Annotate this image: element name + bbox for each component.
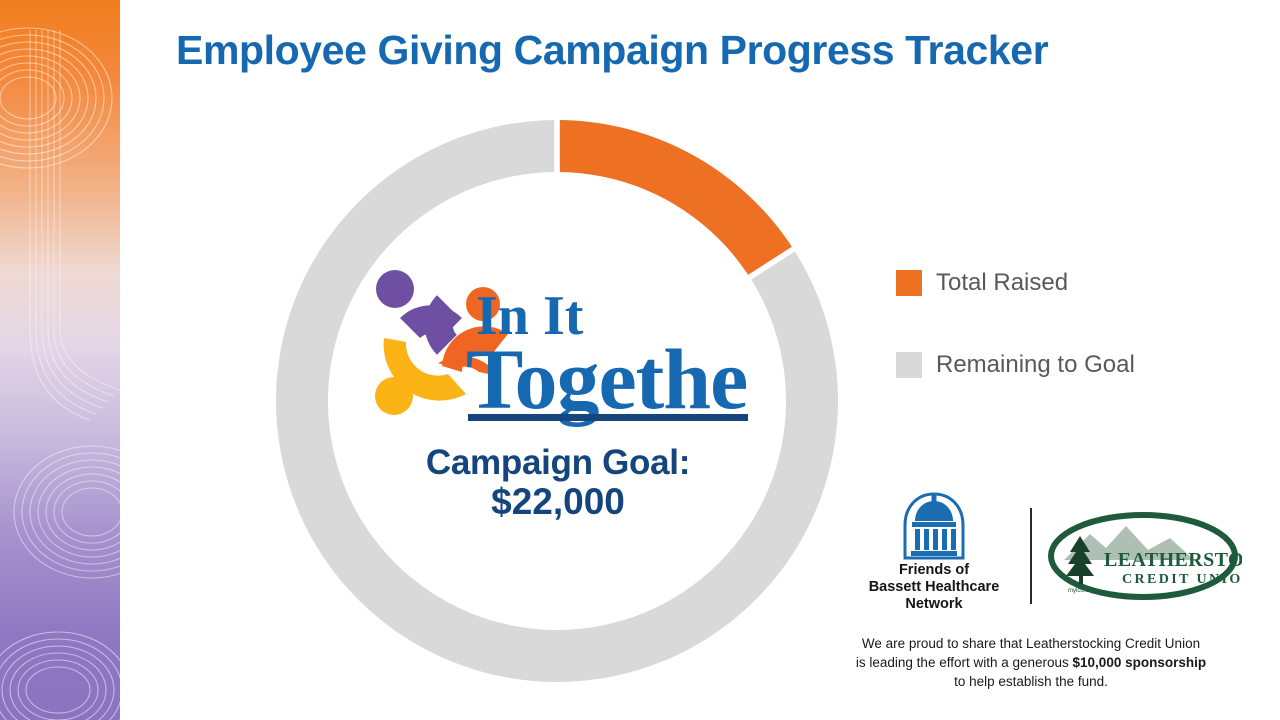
sponsorship-note: We are proud to share that Leatherstocki… — [826, 634, 1236, 691]
friends-logo-name: Friends of Bassett Healthcare Network — [869, 562, 1000, 613]
legend-label-total-raised: Total Raised — [936, 269, 1068, 297]
sponsor-note-amount: $10,000 sponsorship — [1073, 655, 1207, 670]
friends-logo-name-line1: Friends of — [869, 562, 1000, 579]
band-edge-divider — [120, 0, 126, 720]
logo-purple-head-icon — [376, 270, 414, 308]
in-it-together-logo: In It Together — [368, 262, 748, 437]
campaign-goal-amount: $22,000 — [360, 482, 756, 523]
decorative-gradient-band — [0, 0, 120, 720]
partner-logos: Friends of Bassett Healthcare Network LE… — [846, 492, 1246, 620]
chart-legend: Total Raised Remaining to Goal — [896, 262, 1226, 426]
lcu-tagline: mylcu.org — [1068, 588, 1094, 594]
campaign-center-block: In It Together Campaign Goal: $22,000 — [360, 262, 756, 562]
lcu-name-line2: CREDIT UNION — [1122, 572, 1242, 587]
legend-swatch-total-raised — [896, 270, 922, 296]
bassett-cupola-icon — [901, 492, 967, 560]
friends-logo-name-line3: Network — [869, 596, 1000, 613]
legend-swatch-remaining-to-goal — [896, 352, 922, 378]
campaign-goal-label: Campaign Goal: — [360, 443, 756, 482]
page-title: Employee Giving Campaign Progress Tracke… — [176, 27, 1240, 74]
lcu-name-line1: LEATHERSTOCKING — [1104, 549, 1242, 571]
legend-item-total-raised[interactable]: Total Raised — [896, 262, 1226, 304]
friends-logo-name-line2: Bassett Healthcare — [869, 579, 1000, 596]
sponsor-note-line1: We are proud to share that Leatherstocki… — [862, 636, 1200, 651]
sponsor-note-line2-prefix: is leading the effort with a generous — [856, 655, 1073, 670]
logo-divider — [1030, 508, 1032, 604]
legend-item-remaining-to-goal[interactable]: Remaining to Goal — [896, 344, 1226, 386]
leatherstocking-credit-union-logo: LEATHERSTOCKING CREDIT UNION mylcu.org — [1044, 504, 1242, 608]
friends-of-bassett-logo: Friends of Bassett Healthcare Network — [846, 492, 1022, 620]
legend-label-remaining-to-goal: Remaining to Goal — [936, 351, 1135, 379]
logo-text-line2: Together — [466, 331, 748, 427]
sponsor-note-line3: to help establish the fund. — [954, 674, 1108, 689]
slide-canvas: Employee Giving Campaign Progress Tracke… — [0, 0, 1280, 720]
logo-underline — [468, 414, 748, 421]
